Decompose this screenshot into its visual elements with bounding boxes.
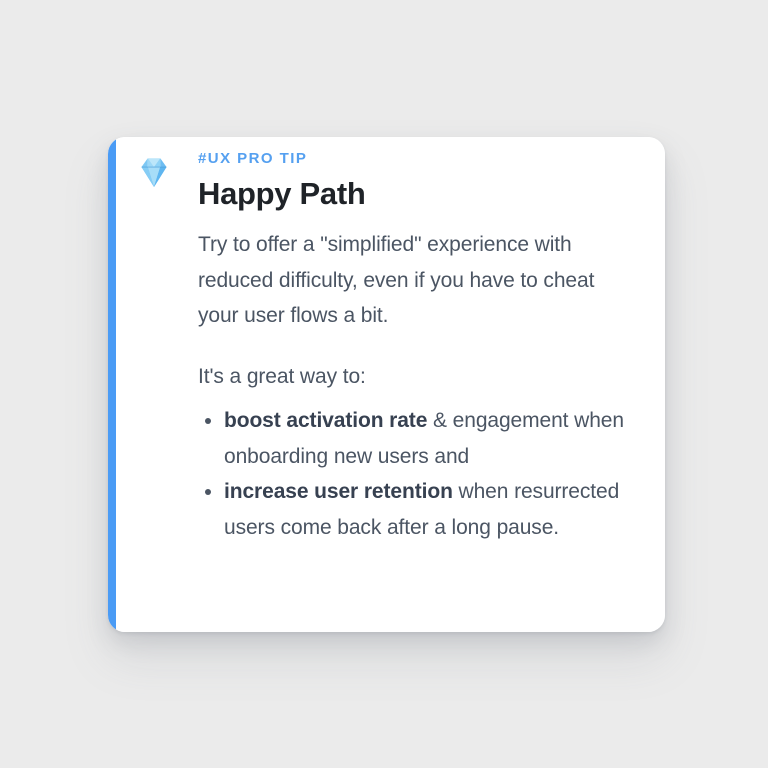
list-item-emphasis: increase user retention: [224, 480, 453, 503]
card-body: #UX PRO TIP Happy Path Try to offer a "s…: [116, 137, 665, 632]
eyebrow-label: #UX PRO TIP: [198, 149, 637, 169]
list-lead-in: It's a great way to:: [198, 359, 637, 395]
gem-icon: [134, 152, 174, 192]
card-accent-bar: [108, 137, 116, 632]
benefits-list: boost activation rate & engagement when …: [198, 403, 637, 545]
intro-paragraph: Try to offer a "simplified" experience w…: [198, 227, 637, 334]
list-item-emphasis: boost activation rate: [224, 409, 427, 432]
page-title: Happy Path: [198, 175, 637, 213]
list-item: increase user retention when resurrected…: [198, 474, 637, 545]
card-content: #UX PRO TIP Happy Path Try to offer a "s…: [198, 149, 637, 545]
list-item: boost activation rate & engagement when …: [198, 403, 637, 474]
ux-pro-tip-card: #UX PRO TIP Happy Path Try to offer a "s…: [108, 137, 665, 632]
page-canvas: #UX PRO TIP Happy Path Try to offer a "s…: [0, 0, 768, 768]
